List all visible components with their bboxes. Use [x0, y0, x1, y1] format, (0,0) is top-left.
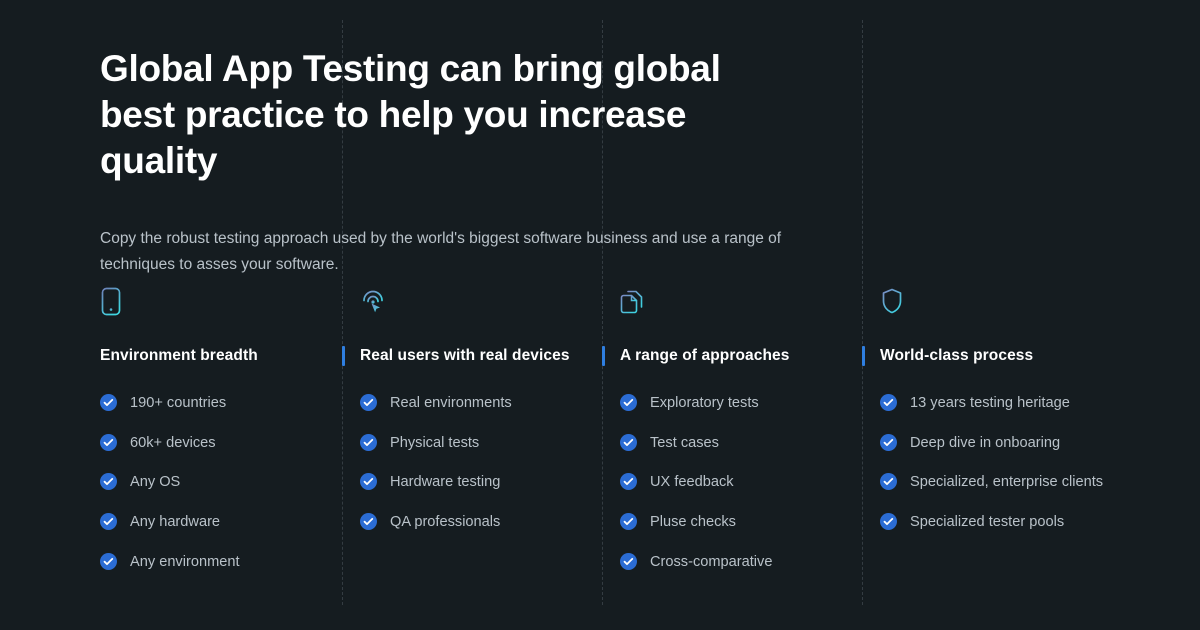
check-circle-icon — [880, 513, 897, 530]
mobile-phone-icon — [100, 285, 336, 319]
list-item: UX feedback — [620, 472, 856, 492]
feature-label: 60k+ devices — [130, 433, 216, 453]
feature-label: Test cases — [650, 433, 719, 453]
feature-label: Specialized tester pools — [910, 512, 1064, 532]
feature-label: Cross-comparative — [650, 552, 772, 572]
list-item: Specialized, enterprise clients — [880, 472, 1116, 492]
list-item: Test cases — [620, 433, 856, 453]
feature-column-environment-breadth: Environment breadth 190+ countries 60k+ … — [100, 285, 360, 591]
list-item: QA professionals — [360, 512, 596, 532]
column-title: World-class process — [880, 347, 1033, 365]
check-circle-icon — [620, 513, 637, 530]
list-item: Specialized tester pools — [880, 512, 1116, 532]
check-circle-icon — [620, 434, 637, 451]
column-heading-row: A range of approaches — [620, 345, 856, 367]
feature-label: 13 years testing heritage — [910, 393, 1070, 413]
check-circle-icon — [620, 553, 637, 570]
feature-list: Exploratory tests Test cases UX feedback… — [620, 393, 856, 572]
heading-accent-bar — [342, 346, 345, 366]
feature-label: Real environments — [390, 393, 512, 413]
feature-columns: Environment breadth 190+ countries 60k+ … — [100, 285, 1200, 591]
feature-column-world-class-process: World-class process 13 years testing her… — [880, 285, 1140, 591]
feature-label: Exploratory tests — [650, 393, 759, 413]
feature-label: Any environment — [130, 552, 240, 572]
list-item: Any hardware — [100, 512, 336, 532]
list-item: Real environments — [360, 393, 596, 413]
check-circle-icon — [100, 473, 117, 490]
check-circle-icon — [880, 394, 897, 411]
feature-list: Real environments Physical tests Hardwar… — [360, 393, 596, 532]
check-circle-icon — [100, 434, 117, 451]
check-circle-icon — [100, 553, 117, 570]
column-title: Environment breadth — [100, 347, 258, 365]
check-circle-icon — [360, 394, 377, 411]
list-item: Hardware testing — [360, 472, 596, 492]
heading-accent-bar — [602, 346, 605, 366]
list-item: 190+ countries — [100, 393, 336, 413]
feature-label: UX feedback — [650, 472, 734, 492]
feature-label: QA professionals — [390, 512, 500, 532]
feature-label: Physical tests — [390, 433, 479, 453]
column-heading-row: World-class process — [880, 345, 1116, 367]
list-item: Deep dive in onboaring — [880, 433, 1116, 453]
list-item: Any OS — [100, 472, 336, 492]
page-title: Global App Testing can bring global best… — [100, 46, 800, 184]
heading-accent-bar — [862, 346, 865, 366]
page-subtitle: Copy the robust testing approach used by… — [100, 226, 790, 279]
list-item: 13 years testing heritage — [880, 393, 1116, 413]
check-circle-icon — [360, 513, 377, 530]
feature-label: 190+ countries — [130, 393, 226, 413]
check-circle-icon — [360, 434, 377, 451]
list-item: Cross-comparative — [620, 552, 856, 572]
tap-signal-cursor-icon — [360, 285, 596, 319]
list-item: Any environment — [100, 552, 336, 572]
column-heading-row: Environment breadth — [100, 345, 336, 367]
feature-label: Specialized, enterprise clients — [910, 472, 1103, 492]
feature-label: Pluse checks — [650, 512, 736, 532]
list-item: 60k+ devices — [100, 433, 336, 453]
feature-label: Any OS — [130, 472, 180, 492]
check-circle-icon — [880, 473, 897, 490]
feature-label: Deep dive in onboaring — [910, 433, 1060, 453]
feature-column-real-users: Real users with real devices Real enviro… — [360, 285, 620, 591]
list-item: Exploratory tests — [620, 393, 856, 413]
column-title: Real users with real devices — [360, 347, 570, 365]
check-circle-icon — [620, 394, 637, 411]
check-circle-icon — [360, 473, 377, 490]
shield-icon — [880, 285, 1116, 319]
column-heading-row: Real users with real devices — [360, 345, 596, 367]
feature-list: 13 years testing heritage Deep dive in o… — [880, 393, 1116, 532]
check-circle-icon — [620, 473, 637, 490]
feature-label: Any hardware — [130, 512, 220, 532]
check-circle-icon — [100, 394, 117, 411]
feature-column-range-of-approaches: A range of approaches Exploratory tests … — [620, 285, 880, 591]
check-circle-icon — [880, 434, 897, 451]
list-item: Physical tests — [360, 433, 596, 453]
feature-label: Hardware testing — [390, 472, 500, 492]
check-circle-icon — [100, 513, 117, 530]
list-item: Pluse checks — [620, 512, 856, 532]
column-title: A range of approaches — [620, 347, 789, 365]
copy-documents-icon — [620, 285, 856, 319]
feature-list: 190+ countries 60k+ devices Any OS Any h… — [100, 393, 336, 572]
